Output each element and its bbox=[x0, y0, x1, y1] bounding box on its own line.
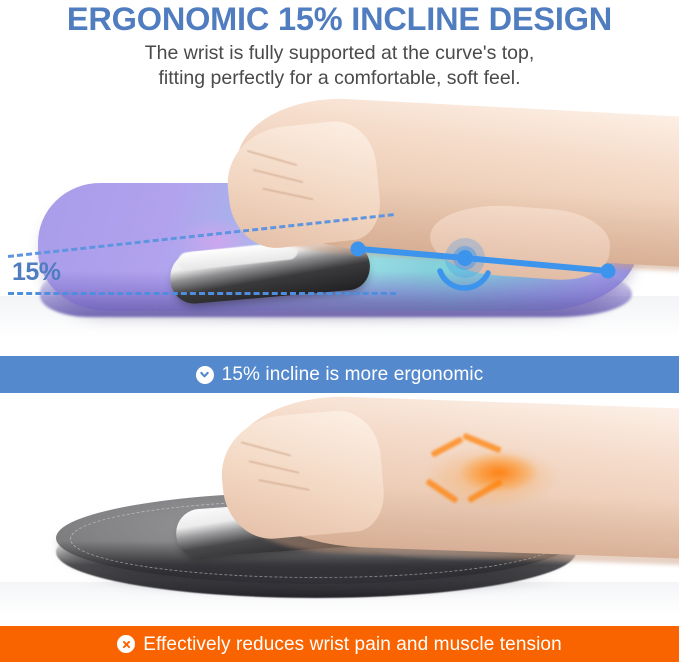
pad-shadow-bottom bbox=[80, 572, 570, 596]
subtitle: The wrist is fully supported at the curv… bbox=[0, 37, 679, 91]
photo-incline-pad: 15% bbox=[0, 95, 679, 356]
subtitle-line-1: The wrist is fully supported at the curv… bbox=[145, 42, 535, 64]
check-circle-icon bbox=[196, 366, 214, 384]
fingers-bottom bbox=[217, 407, 387, 542]
page-title: ERGONOMIC 15% INCLINE DESIGN bbox=[0, 0, 679, 37]
banner-positive: 15% incline is more ergonomic bbox=[0, 356, 679, 393]
incline-angle-label: 15% bbox=[12, 258, 61, 287]
pad-shadow-top bbox=[60, 297, 620, 323]
header: ERGONOMIC 15% INCLINE DESIGN The wrist i… bbox=[0, 0, 679, 91]
banner-negative-text: Effectively reduces wrist pain and muscl… bbox=[143, 635, 562, 654]
product-infographic: ERGONOMIC 15% INCLINE DESIGN The wrist i… bbox=[0, 0, 679, 662]
banner-positive-text: 15% incline is more ergonomic bbox=[222, 365, 484, 384]
incline-lower-dashed-line bbox=[8, 292, 396, 295]
photo-flat-pad bbox=[0, 396, 679, 626]
wrist-pain-glow bbox=[404, 432, 594, 516]
x-circle-icon bbox=[117, 635, 135, 653]
subtitle-line-2: fitting perfectly for a comfortable, sof… bbox=[159, 67, 521, 89]
banner-negative: Effectively reduces wrist pain and muscl… bbox=[0, 626, 679, 662]
